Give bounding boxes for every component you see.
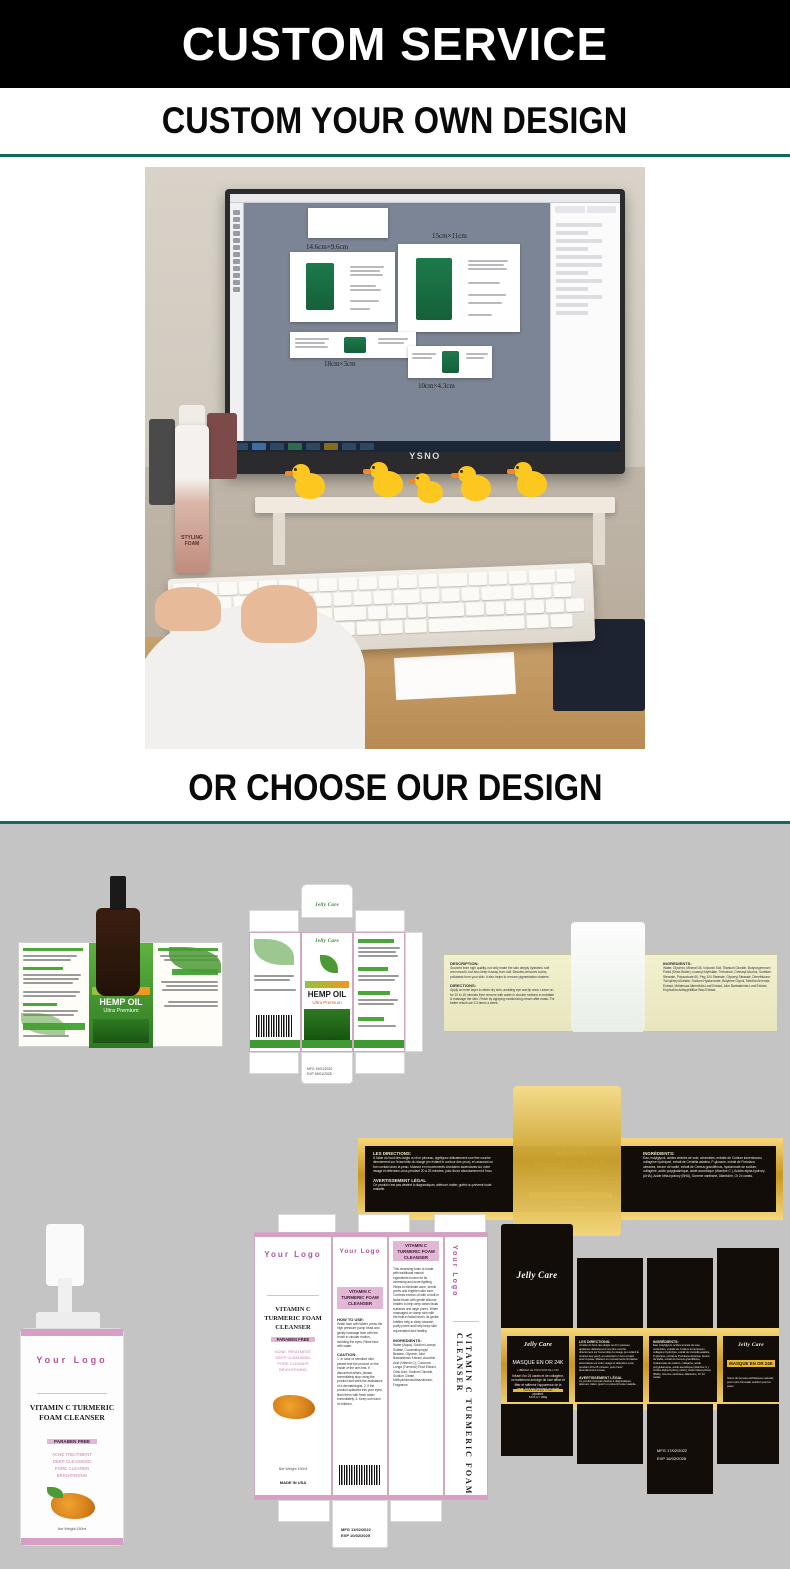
- fc-mfg: MFG 11/02/2022: [341, 1527, 371, 1532]
- carton-top-flap: Jelly Care: [301, 884, 353, 918]
- gm-bottom-flap-a: [501, 1404, 573, 1456]
- banner-custom-service: CUSTOM SERVICE: [0, 0, 790, 88]
- fc-barcode: [339, 1465, 381, 1485]
- artboard-c: [290, 332, 416, 358]
- fc-front-net: Net Weight:150ml: [255, 1467, 331, 1471]
- rubber-duck: [373, 471, 403, 497]
- gm-ingredients-body: Eau, butylglycol, acides aminés de soie,…: [653, 1344, 713, 1380]
- left-hand: [155, 587, 221, 631]
- carton-glue-flap: [405, 932, 423, 1052]
- design-gallery: Jelly Care HEMP OIL Ultra Premium Jelly …: [0, 824, 790, 1569]
- desk-paper: [394, 652, 516, 700]
- dropper-cap: [110, 876, 126, 910]
- fc-turmeric-icon: [273, 1395, 315, 1419]
- monitor-screen: 14.6cm×9.6cm 15cm×11cm: [230, 194, 620, 452]
- fc-howto-name: VITAMIN C TURMERIC FOAM CLEANSER: [337, 1289, 383, 1307]
- workstation-photo: 14.6cm×9.6cm 15cm×11cm: [145, 167, 645, 749]
- monitor-brand-label: YSNO: [225, 451, 625, 461]
- hemp-box-exp: EXP 18/01/2025: [307, 1072, 332, 1076]
- product-gold-mask-carton[interactable]: Jelly Care Jelly Care MASQUE EN OR 24K L…: [497, 1224, 783, 1524]
- fc-panel-description: VITAMIN C TURMERIC FOAM CLEANSER This cl…: [388, 1232, 444, 1500]
- gold-ingredients-body: Eau, butylglycol, acides aminés de soie,…: [643, 1156, 768, 1178]
- label-green-tea-b: [416, 258, 452, 320]
- gm-top-panel: Jelly Care: [501, 1224, 573, 1334]
- gm-exp: EXP 16/02/2025: [657, 1456, 686, 1461]
- fc-exp: EXP 10/02/2025: [341, 1533, 370, 1538]
- artboard-scrap: [308, 208, 388, 238]
- carton-bottom-flap: MFG 19/01/2022 EXP 18/01/2025: [301, 1052, 353, 1084]
- gm-front-name: MASQUE EN OR 24K: [507, 1360, 569, 1366]
- label-green-tea-c: [344, 337, 366, 353]
- avocado-ingredients-body: Water, Glycerin, Mineral Oil, Volcanic S…: [663, 966, 771, 992]
- hemp-box-top-brand: Jelly Care: [302, 903, 352, 908]
- rubber-duck: [517, 471, 547, 497]
- avocado-jar-vessel: [571, 922, 645, 1032]
- gm-top-brand: Jelly Care: [501, 1270, 573, 1280]
- hemp-box-name: HEMP OIL: [302, 990, 352, 999]
- gm-side-name-badge: MASQUE EN OR 24K: [727, 1360, 775, 1367]
- rubber-duck: [461, 475, 491, 501]
- benefit-brightening: BRIGHTENING: [21, 1472, 123, 1479]
- hemp-tagline: Ultra Premium: [89, 1008, 153, 1014]
- our-design-heading: OR CHOOSE OUR DESIGN: [188, 767, 602, 809]
- fc-bottom-flap: MFG 11/02/2022 EXP 10/02/2025: [332, 1500, 388, 1548]
- dimension-label-d: 10cm×4.3cm: [418, 382, 455, 390]
- carton-panel-side: [353, 932, 405, 1052]
- gold-legal-body: Ce produit n'est pas destiné à diagnosti…: [373, 1183, 498, 1192]
- fc-ingredients-body: Water (Aqua), Sodium Lauroyl Sulfate, Co…: [393, 1343, 439, 1387]
- fc-description-body: This cleansing foam is made with traditi…: [393, 1267, 439, 1333]
- label-green-tea-a: [306, 263, 334, 310]
- benefit-acne: ACNE TREATMENT: [21, 1451, 123, 1458]
- gm-front-subtitle: LIBÉREZ LE POUVOIR DE L'OR: [507, 1368, 569, 1372]
- rubber-duck: [295, 473, 325, 499]
- product-foam-cleanser-carton[interactable]: Your Logo VITAMIN C TURMERIC FOAM CLEANS…: [248, 1214, 490, 1554]
- label-green-tea-d: [442, 351, 459, 373]
- properties-panel[interactable]: [550, 203, 620, 452]
- section-heading-custom-design: CUSTOM YOUR OWN DESIGN: [0, 88, 790, 154]
- banner-title: CUSTOM SERVICE: [182, 17, 608, 71]
- gm-front-net: 5.6 fl oz / 200g: [507, 1395, 569, 1399]
- gm-bottom-flap-b: [577, 1404, 643, 1464]
- fc-made-in-usa: MADE IN USA: [255, 1480, 331, 1485]
- hemp-box-tagline: Ultra Premium: [302, 1000, 352, 1005]
- rubber-duck: [417, 481, 443, 503]
- benefit-pore-cleaner: PORE CLEANER: [21, 1465, 123, 1472]
- gm-side-text: Soins de la peau esthétiques naturels po…: [727, 1376, 775, 1388]
- gm-legal-body: Ce produit n'est pas destiné à diagnosti…: [579, 1380, 639, 1387]
- product-avocado-jar-label[interactable]: DESCRIPTION: Sourced from high quality, …: [443, 954, 778, 1032]
- fc-desc-name: VITAMIN C TURMERIC FOAM CLEANSER: [393, 1243, 439, 1261]
- gm-flap-a: [577, 1258, 643, 1334]
- hemp-product-name: HEMP OIL: [89, 997, 153, 1007]
- hemp-box-mfg: MFG 19/01/2022: [307, 1067, 332, 1071]
- fc-caution-body: 1. In case of sensitive skin, please tes…: [337, 1357, 383, 1405]
- dimension-label-b: 15cm×11cm: [432, 232, 467, 240]
- app-menubar: [230, 194, 620, 203]
- styling-foam-bottle: STYLING FOAM: [175, 425, 209, 573]
- monitor: 14.6cm×9.6cm 15cm×11cm: [225, 189, 625, 474]
- gm-panel-directions: LES DIRECTIONS: À l'aide du bout des doi…: [575, 1336, 643, 1402]
- bottle-product-name: VITAMIN C TURMERIC FOAM CLEANSER: [27, 1403, 117, 1423]
- turmeric-leaf-icon: [47, 1487, 63, 1498]
- panel-rows: [551, 216, 620, 322]
- styling-foam-label: STYLING FOAM: [175, 535, 209, 547]
- fc-howto-body: Wash face with Water, press the high pre…: [337, 1322, 383, 1348]
- gm-directions-body: À l'aide du bout des doigts ou d'un pinc…: [579, 1344, 639, 1373]
- gm-panel-front: Jelly Care MASQUE EN OR 24K LIBÉREZ LE P…: [507, 1336, 569, 1402]
- gm-front-claims: Illumine • Anti-âge • Lisse: [513, 1389, 563, 1392]
- hemp-oil-bottle: [96, 908, 140, 996]
- shelf-leg-right: [593, 513, 605, 565]
- gm-front-blurb: Infusé d'or 24 carats et de collagène, c…: [511, 1374, 565, 1396]
- artboard-d: [408, 346, 492, 378]
- fc-panel-spine: Your Logo VITAMIN C TURMERIC FOAM CLEANS…: [444, 1232, 488, 1500]
- gold-jar-vessel: [513, 1086, 621, 1236]
- facial-brush-head: [46, 1224, 84, 1286]
- gold-directions-body: À l'aide du bout des doigts ou d'un pinc…: [373, 1156, 498, 1174]
- fc-panel-front: Your Logo VITAMIN C TURMERIC FOAM CLEANS…: [254, 1232, 332, 1500]
- gm-front-brand: Jelly Care: [507, 1342, 569, 1348]
- fc-bottom-tuck-b: [390, 1500, 442, 1522]
- dimension-label-c: 18cm×3cm: [324, 360, 356, 368]
- artboard-a: [290, 252, 395, 322]
- fc-bottom-tuck-a: [278, 1500, 330, 1522]
- panel-tabs[interactable]: [551, 203, 620, 216]
- fc-spine-name: VITAMIN C TURMERIC FOAM CLEANSER: [455, 1333, 473, 1499]
- custom-design-heading: CUSTOM YOUR OWN DESIGN: [162, 100, 628, 142]
- gm-mfg: MFG 17/02/2022: [657, 1448, 687, 1453]
- benefit-deep-cleansing: DEEP CLEANSING: [21, 1458, 123, 1465]
- carton-panel-back: [249, 932, 301, 1052]
- gm-flap-b: [647, 1258, 713, 1334]
- fc-front-name: VITAMIN C TURMERIC FOAM CLEANSER: [259, 1305, 327, 1332]
- right-hand: [241, 585, 317, 643]
- bottle-body: Your Logo VITAMIN C TURMERIC FOAM CLEANS…: [20, 1328, 124, 1546]
- gm-panel-side: Jelly Care MASQUE EN OR 24K Soins de la …: [723, 1336, 779, 1402]
- fc-benefit-4: BRIGHTENING: [255, 1367, 331, 1373]
- pen-holder: [149, 419, 175, 505]
- product-hemp-oil-carton[interactable]: Jelly Care Jelly Care HEMP OIL Ultra Pre…: [243, 884, 428, 1089]
- toolbar-icons: [230, 208, 243, 294]
- carton-panel-front: Jelly Care HEMP OIL Ultra Premium 1 fl.o…: [301, 932, 353, 1052]
- carton-tuck-right: [355, 910, 405, 932]
- product-detail-page: CUSTOM SERVICE CUSTOM YOUR OWN DESIGN 14…: [0, 0, 790, 1568]
- avocado-directions-body: Apply an even layer to clean dry skin, a…: [450, 988, 555, 1006]
- fc-howto-logo: Your Logo: [333, 1247, 387, 1257]
- gm-side-brand: Jelly Care: [723, 1342, 779, 1348]
- carton-bottom-tuck-left: [249, 1052, 299, 1074]
- dimension-label-a: 14.6cm×9.6cm: [306, 243, 348, 251]
- shelf-leg-left: [273, 513, 285, 565]
- bottle-paraben-badge: PARABEN FREE: [47, 1439, 97, 1444]
- fc-front-badge: PARABEN FREE: [271, 1337, 315, 1342]
- product-hemp-oil-label[interactable]: Jelly Care HEMP OIL Ultra Premium: [18, 942, 223, 1047]
- hemp-box-brand: Jelly Care: [302, 939, 352, 944]
- gm-bottom-flap-d: [717, 1404, 779, 1464]
- barcode: [256, 1015, 292, 1037]
- fc-front-logo: Your Logo: [255, 1249, 331, 1261]
- gm-bottom-flap-c: MFG 17/02/2022 EXP 16/02/2025: [647, 1404, 713, 1494]
- design-canvas: 14.6cm×9.6cm 15cm×11cm: [246, 206, 548, 452]
- desk-item-jar: [207, 413, 237, 479]
- product-foam-cleanser-bottle[interactable]: Your Logo VITAMIN C TURMERIC FOAM CLEANS…: [12, 1224, 132, 1554]
- gm-flap-c: [717, 1248, 779, 1334]
- section-heading-our-design: OR CHOOSE OUR DESIGN: [0, 755, 790, 821]
- fc-spine-logo: Your Logo: [451, 1245, 458, 1297]
- bottle-net-weight: Net Weight:150ml: [21, 1527, 123, 1531]
- fc-panel-howto: Your Logo VITAMIN C TURMERIC FOAM CLEANS…: [332, 1232, 388, 1500]
- carton-tuck-left: [249, 910, 299, 932]
- carton-bottom-tuck-right: [355, 1052, 405, 1074]
- gm-panel-ingredients: INGRÉDIENTS: Eau, butylglycol, acides am…: [649, 1336, 717, 1402]
- custom-design-photo-wrap: 14.6cm×9.6cm 15cm×11cm: [0, 157, 790, 755]
- bottle-logo-placeholder: Your Logo: [21, 1355, 123, 1365]
- artboard-b: [398, 244, 520, 332]
